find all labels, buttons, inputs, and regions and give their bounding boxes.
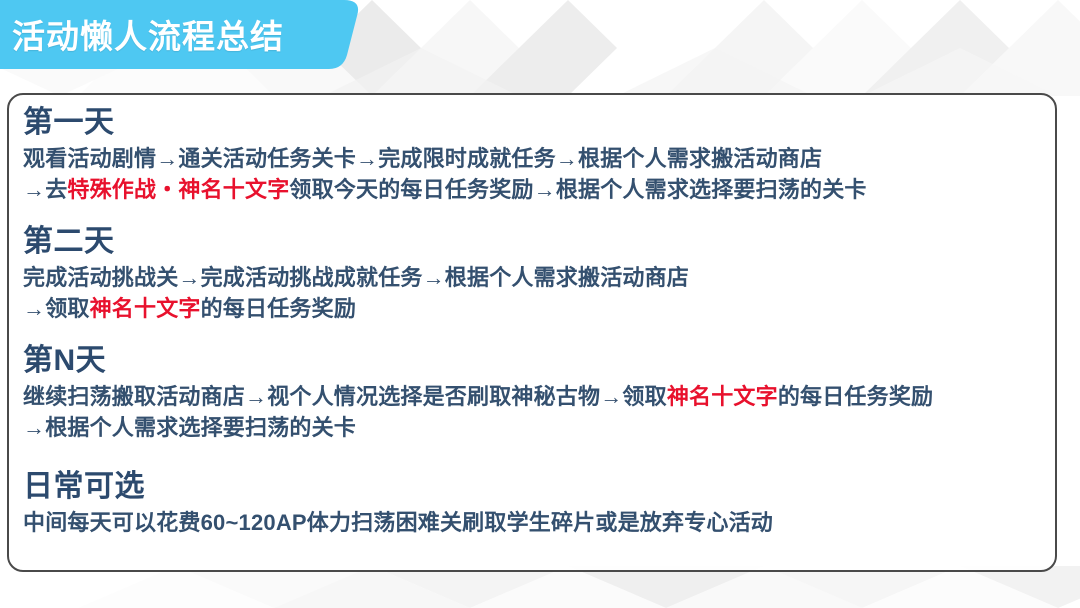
section-day-one: 第一天 观看活动剧情→通关活动任务关卡→完成限时成就任务→根据个人需求搬活动商店… — [23, 103, 1041, 205]
line-text: 继续扫荡搬取活动商店→视个人情况选择是否刷取神秘古物→领取 — [23, 384, 667, 409]
line-text: 中间每天可以花费60~120AP体力扫荡困难关刷取学生碎片或是放弃专心活动 — [23, 510, 773, 535]
line-text: →去 — [23, 177, 67, 202]
highlight-text: 神名十文字 — [90, 296, 201, 321]
section-spacer — [23, 328, 1041, 341]
section-heading: 日常可选 — [23, 467, 1041, 507]
section-line: →根据个人需求选择要扫荡的关卡 — [23, 412, 1041, 443]
highlight-text: 神名十文字 — [667, 384, 778, 409]
line-text: 的每日任务奖励 — [201, 296, 356, 321]
section-line: 完成活动挑战关→完成活动挑战成就任务→根据个人需求搬活动商店 — [23, 262, 1041, 293]
section-line: →去特殊作战・神名十文字领取今天的每日任务奖励→根据个人需求选择要扫荡的关卡 — [23, 174, 1041, 205]
section-line: 继续扫荡搬取活动商店→视个人情况选择是否刷取神秘古物→领取神名十文字的每日任务奖… — [23, 381, 1041, 412]
highlight-text: 特殊作战・神名十文字 — [67, 177, 289, 202]
section-day-two: 第二天 完成活动挑战关→完成活动挑战成就任务→根据个人需求搬活动商店 →领取神名… — [23, 222, 1041, 324]
line-text: 领取今天的每日任务奖励→根据个人需求选择要扫荡的关卡 — [289, 177, 866, 202]
section-heading: 第一天 — [23, 103, 1041, 143]
section-line: 中间每天可以花费60~120AP体力扫荡困难关刷取学生碎片或是放弃专心活动 — [23, 507, 1041, 538]
line-text: →领取 — [23, 296, 90, 321]
title-banner: 活动懒人流程总结 — [0, 0, 362, 69]
line-text: 的每日任务奖励 — [778, 384, 933, 409]
line-text: 完成活动挑战关→完成活动挑战成就任务→根据个人需求搬活动商店 — [23, 265, 689, 290]
page-title: 活动懒人流程总结 — [12, 6, 342, 62]
line-text: 观看活动剧情→通关活动任务关卡→完成限时成就任务→根据个人需求搬活动商店 — [23, 146, 822, 171]
section-line: 观看活动剧情→通关活动任务关卡→完成限时成就任务→根据个人需求搬活动商店 — [23, 143, 1041, 174]
section-spacer — [23, 209, 1041, 222]
section-heading: 第N天 — [23, 341, 1041, 381]
section-daily-optional: 日常可选 中间每天可以花费60~120AP体力扫荡困难关刷取学生碎片或是放弃专心… — [23, 467, 1041, 538]
line-text: →根据个人需求选择要扫荡的关卡 — [23, 415, 356, 440]
section-day-n: 第N天 继续扫荡搬取活动商店→视个人情况选择是否刷取神秘古物→领取神名十文字的每… — [23, 341, 1041, 443]
content-panel: 第一天 观看活动剧情→通关活动任务关卡→完成限时成就任务→根据个人需求搬活动商店… — [7, 93, 1057, 572]
section-spacer — [23, 447, 1041, 467]
section-line: →领取神名十文字的每日任务奖励 — [23, 293, 1041, 324]
section-heading: 第二天 — [23, 222, 1041, 262]
